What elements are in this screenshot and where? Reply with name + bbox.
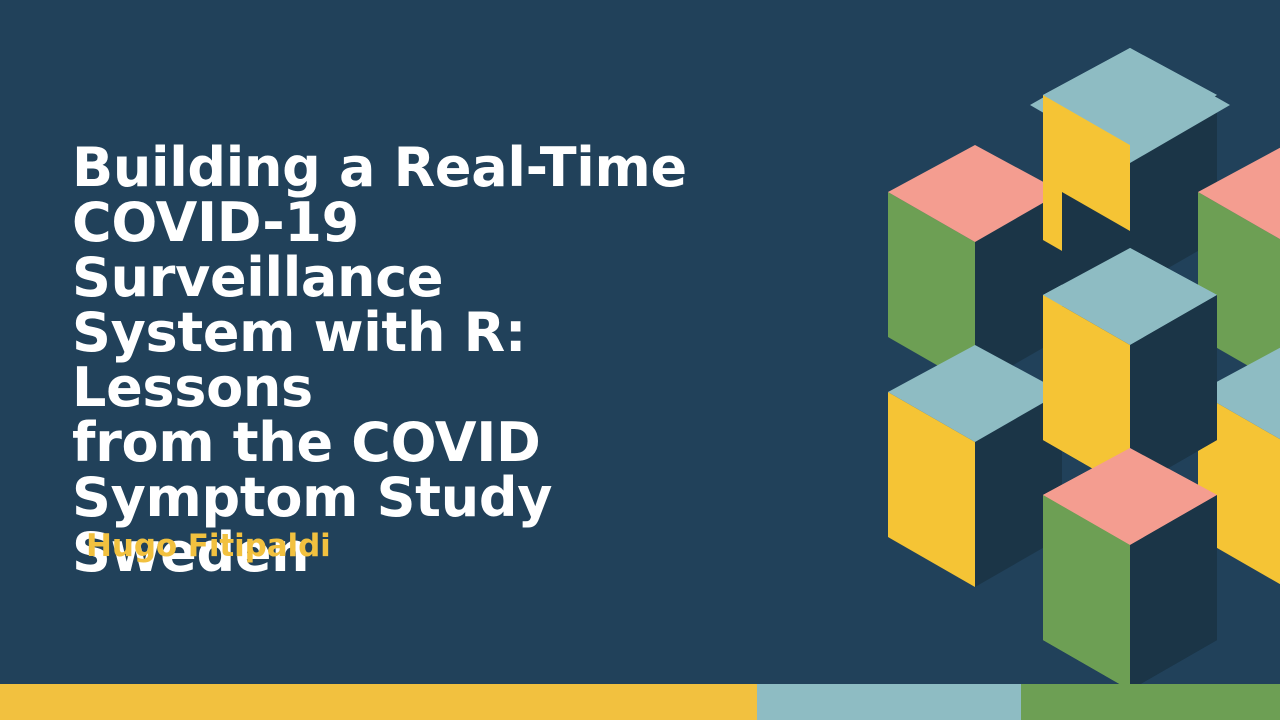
footer-color-bar xyxy=(0,684,1280,720)
page-title: Building a Real-Time COVID-19 Surveillan… xyxy=(72,140,732,580)
cube-final-pass xyxy=(1043,248,1217,690)
isometric-cubes-graphic xyxy=(820,0,1280,690)
title-block: Building a Real-Time COVID-19 Surveillan… xyxy=(72,140,732,580)
footer-segment-green xyxy=(1021,684,1280,720)
author-block: Hugo Fitipaldi xyxy=(86,526,331,566)
cube-left-lower xyxy=(888,345,1062,587)
footer-segment-teal xyxy=(757,684,1021,720)
background-cutouts xyxy=(820,0,1280,105)
presentation-slide: Building a Real-Time COVID-19 Surveillan… xyxy=(0,0,1280,720)
author-name: Hugo Fitipaldi xyxy=(86,526,331,566)
footer-segment-yellow xyxy=(0,684,757,720)
